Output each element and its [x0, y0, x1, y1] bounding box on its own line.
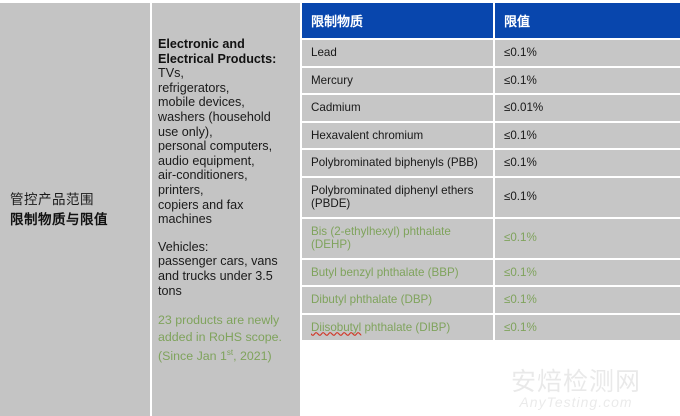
table-row: Cadmium≤0.01% [302, 95, 680, 123]
note-line-3-post: , 2021) [233, 349, 272, 363]
cell-substance: Lead [302, 40, 495, 68]
note-line-1: 23 products are newly [158, 313, 279, 327]
products-heading-label: Electronic and Electrical Products [158, 37, 272, 66]
vehicles-heading: Vehicles: [158, 240, 294, 255]
products-spacer [158, 227, 294, 240]
cell-substance: Polybrominated biphenyls (PBB) [302, 150, 495, 178]
table-body: Lead≤0.1%Mercury≤0.1%Cadmium≤0.01%Hexava… [302, 40, 680, 342]
slide-root: 管控产品范围 限制物质与限值 Electronic and Electrical… [0, 0, 680, 416]
scope-label-text: 管控产品范围 限制物质与限值 [10, 3, 142, 416]
products-list: TVs, refrigerators, mobile devices, wash… [158, 66, 294, 227]
cell-limit: ≤0.1% [495, 219, 680, 260]
table-row: Mercury≤0.1% [302, 68, 680, 96]
cell-substance: Polybrominated diphenyl ethers (PBDE) [302, 178, 495, 219]
cell-substance: Hexavalent chromium [302, 123, 495, 151]
note-line-3-pre: (Since Jan 1 [158, 349, 227, 363]
misspelled-word: Diisobutyl [311, 321, 361, 334]
cell-limit: ≤0.01% [495, 95, 680, 123]
cell-limit: ≤0.1% [495, 123, 680, 151]
cell-substance: Mercury [302, 68, 495, 96]
cell-substance: Cadmium [302, 95, 495, 123]
table-row: Lead≤0.1% [302, 40, 680, 68]
vehicles-list: passenger cars, vans and trucks under 3.… [158, 254, 294, 298]
cell-limit: ≤0.1% [495, 150, 680, 178]
table-row: Bis (2-ethylhexyl) phthalate (DEHP)≤0.1% [302, 219, 680, 260]
cell-limit: ≤0.1% [495, 315, 680, 343]
cell-limit: ≤0.1% [495, 287, 680, 315]
note-line-2: added in RoHS scope. [158, 330, 282, 344]
scope-title-substances: 限制物质与限值 [10, 210, 142, 230]
scope-title-products: 管控产品范围 [10, 190, 142, 210]
scope-label-panel: 管控产品范围 限制物质与限值 [0, 3, 150, 416]
table-row: Diisobutyl phthalate (DIBP)≤0.1% [302, 315, 680, 343]
new-products-note: 23 products are newly added in RoHS scop… [158, 312, 294, 365]
products-heading-colon: : [272, 52, 276, 66]
table-row: Polybrominated diphenyl ethers (PBDE)≤0.… [302, 178, 680, 219]
cell-substance: Dibutyl phthalate (DBP) [302, 287, 495, 315]
products-heading: Electronic and Electrical Products: [158, 37, 294, 66]
column-header-limit: 限值 [495, 3, 680, 40]
table-header-row: 限制物质 限值 [302, 3, 680, 40]
table-row: Polybrominated biphenyls (PBB)≤0.1% [302, 150, 680, 178]
cell-substance: Diisobutyl phthalate (DIBP) [302, 315, 495, 343]
cell-limit: ≤0.1% [495, 40, 680, 68]
restricted-substances-table: 限制物质 限值 Lead≤0.1%Mercury≤0.1%Cadmium≤0.0… [302, 3, 680, 342]
table-row: Hexavalent chromium≤0.1% [302, 123, 680, 151]
cell-limit: ≤0.1% [495, 68, 680, 96]
table-row: Dibutyl phthalate (DBP)≤0.1% [302, 287, 680, 315]
cell-substance: Bis (2-ethylhexyl) phthalate (DEHP) [302, 219, 495, 260]
products-panel: Electronic and Electrical Products: TVs,… [152, 3, 300, 416]
cell-limit: ≤0.1% [495, 260, 680, 288]
cell-limit: ≤0.1% [495, 178, 680, 219]
cell-substance: Butyl benzyl phthalate (BBP) [302, 260, 495, 288]
column-header-substance: 限制物质 [302, 3, 495, 40]
table-row: Butyl benzyl phthalate (BBP)≤0.1% [302, 260, 680, 288]
substances-table-panel: 限制物质 限值 Lead≤0.1%Mercury≤0.1%Cadmium≤0.0… [302, 3, 680, 416]
